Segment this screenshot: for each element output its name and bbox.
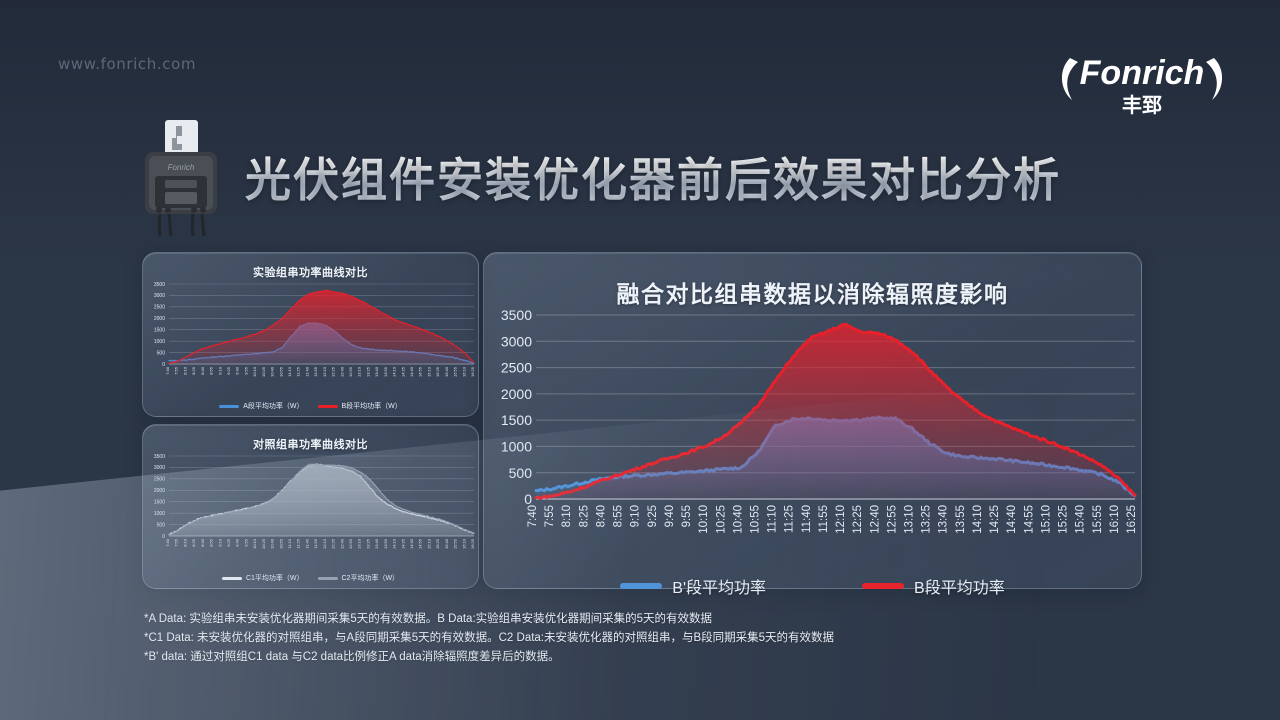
svg-text:9:55: 9:55	[243, 366, 248, 375]
legend-label-bprime: B'段平均功率	[672, 574, 766, 598]
svg-text:0: 0	[524, 491, 532, 507]
svg-text:13:55: 13:55	[383, 538, 388, 549]
svg-text:10:55: 10:55	[749, 505, 761, 534]
svg-text:2000: 2000	[154, 316, 165, 322]
svg-text:11:40: 11:40	[801, 505, 813, 533]
fonrich-logo-icon: Fonrich 丰郅	[1056, 40, 1228, 118]
svg-text:11:25: 11:25	[296, 538, 301, 548]
svg-text:3500: 3500	[501, 309, 532, 323]
svg-text:14:55: 14:55	[418, 366, 423, 377]
svg-text:3000: 3000	[501, 333, 532, 349]
svg-text:11:55: 11:55	[313, 538, 318, 548]
svg-text:11:25: 11:25	[296, 366, 301, 376]
svg-text:2000: 2000	[501, 386, 532, 402]
svg-text:8:40: 8:40	[200, 538, 205, 547]
svg-text:8:40: 8:40	[200, 366, 205, 375]
svg-text:0: 0	[162, 362, 165, 368]
svg-text:7:55: 7:55	[174, 366, 179, 375]
svg-text:14:40: 14:40	[409, 366, 414, 377]
svg-text:13:25: 13:25	[921, 505, 933, 534]
page-title: 光伏组件安装优化器前后效果对比分析	[245, 144, 1061, 210]
svg-text:7:40: 7:40	[165, 366, 170, 375]
slide-root: www.fonrich.com Fonrich 丰郅 Fonrich	[0, 0, 1280, 720]
svg-text:13:55: 13:55	[955, 505, 967, 534]
svg-text:9:25: 9:25	[226, 366, 231, 375]
svg-text:14:40: 14:40	[1006, 505, 1018, 534]
chart-svg-experimental: 05001000150020002500300035007:407:558:10…	[143, 280, 480, 398]
footnote-line: *B' data: 通过对照组C1 data 与C2 data比例修正A dat…	[144, 648, 1044, 667]
legend-item[interactable]: B段平均功率	[862, 574, 1005, 598]
svg-text:9:40: 9:40	[235, 538, 240, 547]
footnotes: *A Data: 实验组串未安装优化器期间采集5天的有效数据。B Data:实验…	[144, 610, 1044, 667]
svg-text:10:40: 10:40	[732, 505, 744, 534]
panel-experimental-group: 实验组串功率曲线对比 05001000150020002500300035007…	[142, 252, 479, 417]
svg-text:8:55: 8:55	[209, 538, 214, 547]
svg-text:12:10: 12:10	[835, 505, 847, 534]
svg-text:13:40: 13:40	[938, 505, 950, 534]
svg-text:7:55: 7:55	[174, 538, 179, 547]
svg-text:1000: 1000	[154, 339, 165, 345]
panel-title-merged: 融合对比组串数据以消除辐照度影响	[484, 253, 1141, 309]
svg-text:丰郅: 丰郅	[1122, 93, 1162, 117]
svg-text:12:25: 12:25	[852, 505, 864, 534]
svg-text:8:10: 8:10	[182, 538, 187, 547]
legend-swatch-c2	[318, 577, 338, 580]
footnote-line: *A Data: 实验组串未安装优化器期间采集5天的有效数据。B Data:实验…	[144, 610, 1044, 629]
svg-text:12:40: 12:40	[339, 538, 344, 549]
svg-text:15:55: 15:55	[1092, 505, 1104, 534]
svg-text:10:25: 10:25	[261, 366, 266, 377]
svg-text:10:55: 10:55	[278, 366, 283, 377]
svg-text:15:55: 15:55	[453, 538, 458, 549]
svg-text:9:25: 9:25	[647, 505, 659, 527]
svg-text:14:55: 14:55	[418, 538, 423, 549]
svg-text:15:10: 15:10	[426, 366, 431, 377]
svg-text:12:25: 12:25	[331, 538, 336, 549]
svg-text:8:10: 8:10	[182, 366, 187, 375]
svg-text:8:55: 8:55	[613, 505, 625, 527]
svg-text:14:25: 14:25	[400, 538, 405, 549]
svg-text:12:55: 12:55	[348, 366, 353, 377]
svg-text:16:10: 16:10	[461, 366, 466, 377]
watermark-url: www.fonrich.com	[58, 55, 196, 73]
svg-text:13:55: 13:55	[383, 366, 388, 377]
chart-control-group: 05001000150020002500300035007:407:558:10…	[143, 452, 478, 575]
svg-text:12:10: 12:10	[322, 538, 327, 549]
svg-text:8:25: 8:25	[191, 366, 196, 375]
svg-text:500: 500	[509, 465, 533, 481]
svg-text:8:25: 8:25	[191, 538, 196, 547]
svg-text:15:55: 15:55	[453, 366, 458, 377]
chart-svg-control: 05001000150020002500300035007:407:558:10…	[143, 452, 480, 570]
legend-merged: B'段平均功率 B段平均功率	[484, 574, 1141, 598]
svg-text:16:10: 16:10	[1109, 505, 1121, 534]
legend-swatch-a	[219, 405, 239, 408]
optimizer-device-image: Fonrich	[135, 118, 227, 236]
legend-swatch-b	[862, 583, 904, 589]
svg-text:9:55: 9:55	[243, 538, 248, 547]
svg-text:16:10: 16:10	[461, 538, 466, 549]
svg-text:9:55: 9:55	[681, 505, 693, 527]
svg-text:15:40: 15:40	[1075, 505, 1087, 534]
svg-text:13:40: 13:40	[374, 366, 379, 377]
svg-text:15:40: 15:40	[444, 538, 449, 549]
svg-text:11:55: 11:55	[818, 505, 830, 533]
svg-text:13:40: 13:40	[374, 538, 379, 549]
svg-text:9:10: 9:10	[630, 505, 642, 527]
svg-text:8:55: 8:55	[209, 366, 214, 375]
panel-title-control: 对照组串功率曲线对比	[143, 425, 478, 452]
svg-text:10:10: 10:10	[252, 538, 257, 549]
panel-control-group: 对照组串功率曲线对比 05001000150020002500300035007…	[142, 424, 479, 589]
svg-text:14:55: 14:55	[1023, 505, 1035, 534]
svg-text:11:25: 11:25	[784, 505, 796, 533]
svg-text:13:25: 13:25	[365, 538, 370, 549]
svg-text:8:25: 8:25	[578, 505, 590, 527]
svg-text:11:10: 11:10	[287, 366, 292, 376]
chart-experimental-group: 05001000150020002500300035007:407:558:10…	[143, 280, 478, 403]
title-row: Fonrich 光伏组件安装优化器前后效果对比分析	[135, 118, 1061, 236]
svg-text:Fonrich: Fonrich	[1080, 54, 1205, 92]
svg-text:1500: 1500	[154, 500, 165, 506]
svg-text:15:25: 15:25	[435, 366, 440, 377]
svg-text:11:10: 11:10	[287, 538, 292, 548]
svg-text:500: 500	[157, 350, 166, 356]
svg-text:14:10: 14:10	[392, 538, 397, 549]
svg-text:16:25: 16:25	[470, 366, 475, 377]
svg-text:14:10: 14:10	[972, 505, 984, 534]
svg-text:0: 0	[162, 534, 165, 540]
legend-swatch-bprime	[620, 583, 662, 589]
svg-text:3000: 3000	[154, 293, 165, 299]
svg-text:16:25: 16:25	[470, 538, 475, 549]
svg-text:15:10: 15:10	[426, 538, 431, 549]
legend-label-b: B段平均功率	[914, 574, 1005, 598]
svg-text:1500: 1500	[154, 328, 165, 334]
svg-text:Fonrich: Fonrich	[168, 163, 195, 172]
svg-text:12:55: 12:55	[348, 538, 353, 549]
svg-text:11:40: 11:40	[304, 366, 309, 376]
svg-text:3500: 3500	[154, 282, 165, 288]
svg-text:8:10: 8:10	[561, 505, 573, 527]
optimizer-device-icon: Fonrich	[135, 118, 227, 236]
legend-swatch-b	[318, 405, 338, 408]
svg-text:2500: 2500	[154, 477, 165, 483]
svg-text:13:10: 13:10	[357, 538, 362, 549]
svg-text:12:40: 12:40	[339, 366, 344, 377]
svg-text:15:10: 15:10	[1040, 505, 1052, 534]
svg-text:10:40: 10:40	[270, 538, 275, 549]
legend-swatch-c1	[222, 577, 242, 580]
panel-title-experimental: 实验组串功率曲线对比	[143, 253, 478, 280]
svg-text:16:25: 16:25	[1126, 505, 1138, 534]
chart-svg-merged: 05001000150020002500300035007:407:558:10…	[484, 309, 1143, 561]
svg-text:7:55: 7:55	[544, 505, 556, 527]
svg-text:12:40: 12:40	[869, 505, 881, 534]
svg-text:10:25: 10:25	[715, 505, 727, 534]
svg-text:10:55: 10:55	[278, 538, 283, 549]
svg-text:9:25: 9:25	[226, 538, 231, 547]
svg-text:14:25: 14:25	[989, 505, 1001, 534]
svg-text:14:25: 14:25	[400, 366, 405, 377]
svg-text:13:10: 13:10	[904, 505, 916, 534]
svg-text:7:40: 7:40	[165, 538, 170, 547]
svg-text:1500: 1500	[501, 412, 532, 428]
legend-item[interactable]: B'段平均功率	[620, 574, 766, 598]
footnote-line: *C1 Data: 未安装优化器的对照组串，与A段同期采集5天的有效数据。C2 …	[144, 629, 1044, 648]
svg-text:15:25: 15:25	[1058, 505, 1070, 534]
svg-text:500: 500	[157, 522, 166, 528]
svg-text:11:55: 11:55	[313, 366, 318, 376]
svg-text:13:25: 13:25	[365, 366, 370, 377]
svg-text:7:40: 7:40	[527, 505, 539, 527]
svg-text:8:40: 8:40	[595, 505, 607, 527]
svg-text:15:25: 15:25	[435, 538, 440, 549]
svg-text:10:10: 10:10	[252, 366, 257, 377]
svg-text:9:40: 9:40	[664, 505, 676, 527]
svg-text:10:40: 10:40	[270, 366, 275, 377]
svg-text:9:10: 9:10	[217, 538, 222, 547]
svg-text:1000: 1000	[501, 438, 532, 454]
svg-text:12:25: 12:25	[331, 366, 336, 377]
svg-text:11:40: 11:40	[304, 538, 309, 548]
svg-text:1000: 1000	[154, 511, 165, 517]
svg-text:10:10: 10:10	[698, 505, 710, 534]
svg-text:12:10: 12:10	[322, 366, 327, 377]
fonrich-logo: Fonrich 丰郅	[1056, 40, 1228, 118]
chart-merged-comparison: 05001000150020002500300035007:407:558:10…	[484, 309, 1141, 566]
svg-text:3500: 3500	[154, 454, 165, 460]
svg-text:9:10: 9:10	[217, 366, 222, 375]
svg-text:10:25: 10:25	[261, 538, 266, 549]
svg-text:14:10: 14:10	[392, 366, 397, 377]
svg-text:3000: 3000	[154, 465, 165, 471]
svg-text:15:40: 15:40	[444, 366, 449, 377]
svg-text:2000: 2000	[154, 488, 165, 494]
svg-text:14:40: 14:40	[409, 538, 414, 549]
svg-text:13:10: 13:10	[357, 366, 362, 377]
svg-text:9:40: 9:40	[235, 366, 240, 375]
svg-text:12:55: 12:55	[886, 505, 898, 534]
panel-merged-comparison: 融合对比组串数据以消除辐照度影响 05001000150020002500300…	[483, 252, 1142, 589]
svg-text:2500: 2500	[501, 360, 532, 376]
svg-text:11:10: 11:10	[767, 505, 779, 533]
svg-text:2500: 2500	[154, 305, 165, 311]
